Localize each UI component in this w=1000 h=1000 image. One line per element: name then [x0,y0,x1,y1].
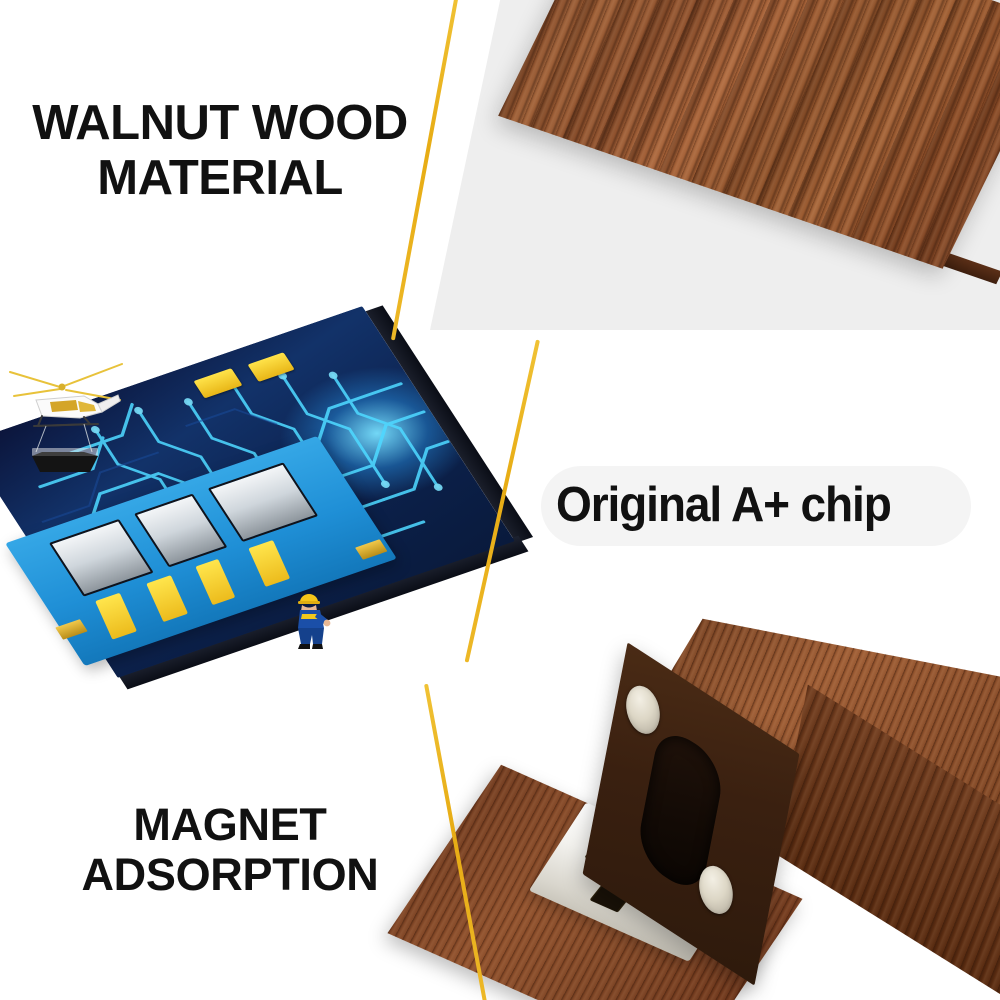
connector-gold-tab [355,539,387,560]
connector-gold-finger [248,540,290,587]
connector-gold-tab [55,619,87,640]
magnet-disc [623,678,664,742]
helicopter-icon [6,356,126,476]
connector-gold-finger [195,559,235,605]
product-feature-infographic: WALNUT WOOD MATERIAL [0,0,1000,1000]
headline-walnut-wood-material: WALNUT WOOD MATERIAL [14,96,426,206]
walnut-plank-photo [430,0,1000,340]
headline-original-a-plus-chip: Original A+ chip [556,478,951,533]
connector-slot [208,462,318,542]
connector-slot [49,519,154,597]
connector-slot [134,494,227,568]
walnut-plank [498,0,1000,269]
mini-worker-figure-icon [288,590,334,650]
memory-chip-render [0,344,530,656]
connector-gold-finger [146,575,188,622]
connector-gold-finger [95,593,137,640]
headline-magnet-adsorption: MAGNET ADSORPTION [30,800,430,901]
usb-drive-magnet-photo [400,688,1000,1000]
